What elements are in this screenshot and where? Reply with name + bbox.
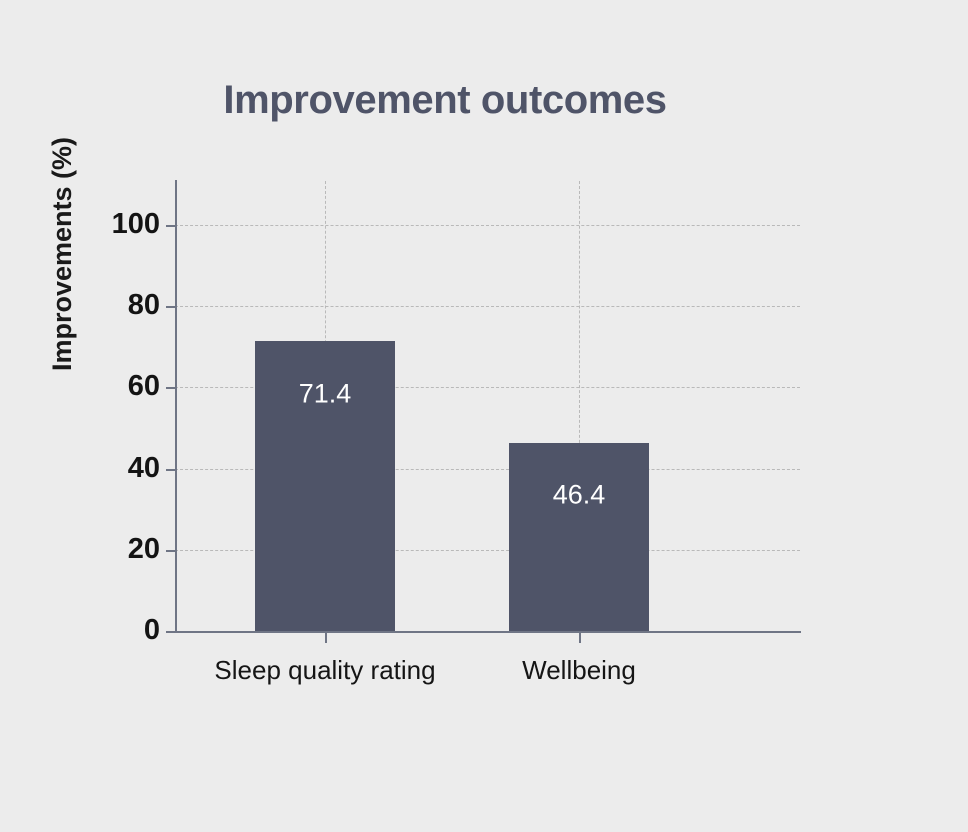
y-axis-title: Improvements (%)	[45, 104, 79, 404]
y-tick-mark	[166, 225, 176, 227]
y-tick-label: 40	[128, 454, 160, 483]
y-tick-label: 60	[128, 372, 160, 401]
gridline-horizontal	[175, 306, 800, 307]
y-tick-mark	[166, 469, 176, 471]
y-tick-mark	[166, 550, 176, 552]
y-tick-label: 80	[128, 291, 160, 320]
y-tick-mark	[166, 387, 176, 389]
x-tick-mark	[579, 632, 581, 643]
y-tick-label: 100	[112, 210, 160, 239]
bar-value-label: 71.4	[299, 380, 352, 407]
x-tick-label: Sleep quality rating	[214, 655, 435, 686]
x-axis-spine	[175, 631, 801, 633]
gridline-horizontal	[175, 225, 800, 226]
y-tick-mark	[166, 306, 176, 308]
y-tick-label: 20	[128, 535, 160, 564]
y-axis-spine	[175, 180, 177, 633]
chart-title: Improvement outcomes	[0, 78, 890, 123]
y-tick-mark	[166, 631, 176, 633]
x-tick-mark	[325, 632, 327, 643]
bar-value-label: 46.4	[553, 482, 606, 509]
bar[interactable]	[509, 443, 649, 631]
x-tick-label: Wellbeing	[522, 655, 636, 686]
y-tick-label: 0	[144, 616, 160, 645]
chart-figure: Improvement outcomes Improvements (%) 02…	[0, 0, 968, 832]
